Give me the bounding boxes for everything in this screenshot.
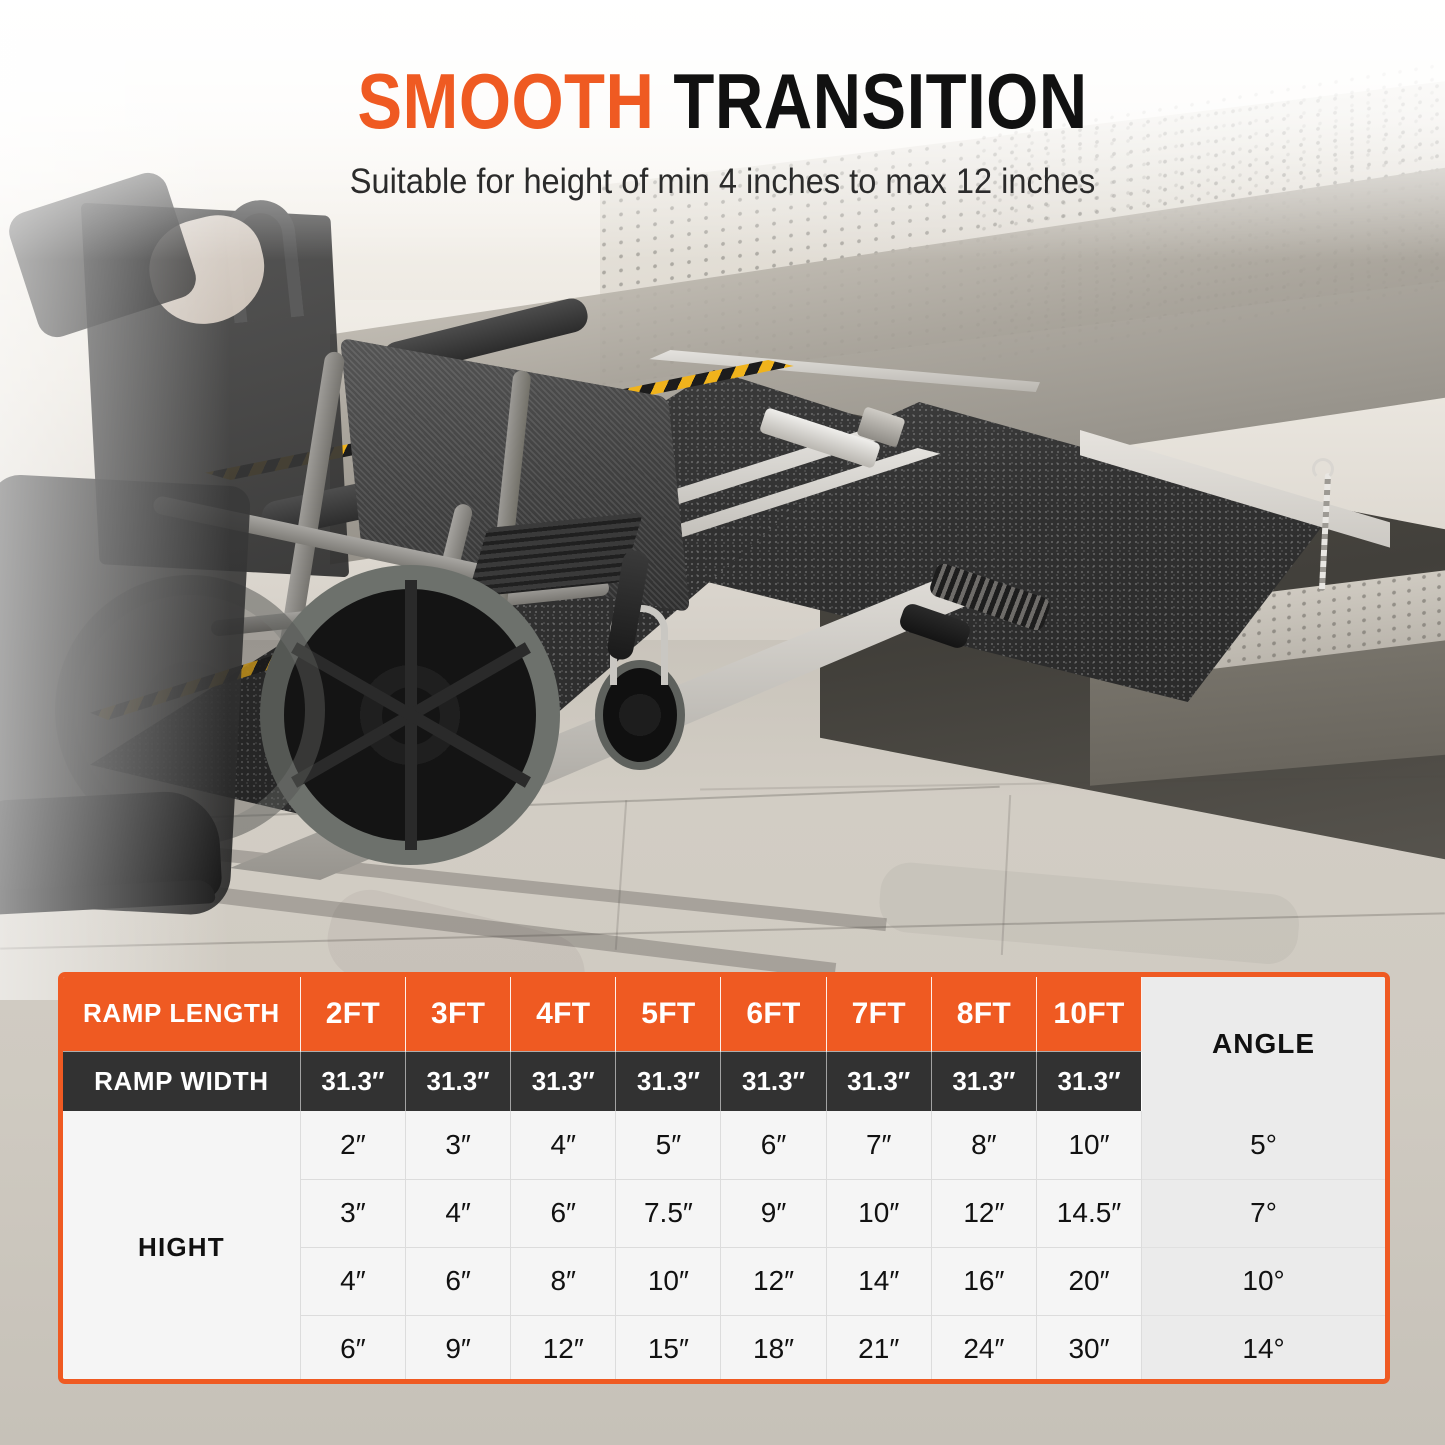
width-cell: 31.3″: [406, 1051, 511, 1111]
height-cell: 8″: [511, 1247, 616, 1315]
width-cell: 31.3″: [721, 1051, 826, 1111]
height-cell: 21″: [826, 1315, 931, 1383]
height-cell: 30″: [1036, 1315, 1141, 1383]
height-cell: 8″: [931, 1111, 1036, 1179]
length-cell: 8FT: [931, 977, 1036, 1051]
height-cell: 3″: [406, 1111, 511, 1179]
width-cell: 31.3″: [511, 1051, 616, 1111]
height-cell: 12″: [511, 1315, 616, 1383]
height-cell: 6″: [511, 1179, 616, 1247]
height-cell: 14.5″: [1036, 1179, 1141, 1247]
height-cell: 4″: [300, 1247, 405, 1315]
specification-table: RAMP LENGTH 2FT 3FT 4FT 5FT 6FT 7FT 8FT …: [58, 972, 1390, 1384]
row-header-ramp-length: RAMP LENGTH: [63, 977, 300, 1051]
width-cell: 31.3″: [826, 1051, 931, 1111]
length-cell: 4FT: [511, 977, 616, 1051]
height-cell: 10″: [1036, 1111, 1141, 1179]
height-cell: 15″: [616, 1315, 721, 1383]
height-cell: 18″: [721, 1315, 826, 1383]
length-cell: 6FT: [721, 977, 826, 1051]
angle-cell: 10°: [1142, 1247, 1385, 1315]
title-accent-word: SMOOTH: [357, 57, 654, 145]
table-row: HIGHT 2″ 3″ 4″ 5″ 6″ 7″ 8″ 10″ 5°: [63, 1111, 1385, 1179]
length-cell: 2FT: [300, 977, 405, 1051]
title-word: TRANSITION: [673, 57, 1087, 145]
table-row-ramp-length: RAMP LENGTH 2FT 3FT 4FT 5FT 6FT 7FT 8FT …: [63, 977, 1385, 1051]
length-cell: 7FT: [826, 977, 931, 1051]
height-cell: 7.5″: [616, 1179, 721, 1247]
height-cell: 6″: [406, 1247, 511, 1315]
height-cell: 6″: [300, 1315, 405, 1383]
width-cell: 31.3″: [931, 1051, 1036, 1111]
length-cell: 10FT: [1036, 977, 1141, 1051]
length-cell: 3FT: [406, 977, 511, 1051]
headline-block: SMOOTH TRANSITION Suitable for height of…: [0, 62, 1445, 202]
height-cell: 10″: [616, 1247, 721, 1315]
height-cell: 12″: [931, 1179, 1036, 1247]
chain-hook: [1312, 458, 1334, 480]
angle-cell: 14°: [1142, 1315, 1385, 1383]
width-cell: 31.3″: [300, 1051, 405, 1111]
height-cell: 3″: [300, 1179, 405, 1247]
row-header-ramp-width: RAMP WIDTH: [63, 1051, 300, 1111]
height-cell: 14″: [826, 1247, 931, 1315]
width-cell: 31.3″: [1036, 1051, 1141, 1111]
safety-chain: [1319, 473, 1331, 591]
height-cell: 4″: [406, 1179, 511, 1247]
length-cell: 5FT: [616, 977, 721, 1051]
page-title: SMOOTH TRANSITION: [101, 62, 1344, 140]
height-cell: 6″: [721, 1111, 826, 1179]
angle-cell: 7°: [1142, 1179, 1385, 1247]
height-cell: 16″: [931, 1247, 1036, 1315]
height-cell: 10″: [826, 1179, 931, 1247]
row-header-height: HIGHT: [63, 1111, 300, 1383]
height-cell: 4″: [511, 1111, 616, 1179]
angle-cell: 5°: [1142, 1111, 1385, 1179]
height-cell: 24″: [931, 1315, 1036, 1383]
ramp-spec-grid: RAMP LENGTH 2FT 3FT 4FT 5FT 6FT 7FT 8FT …: [63, 977, 1385, 1383]
height-cell: 12″: [721, 1247, 826, 1315]
height-cell: 7″: [826, 1111, 931, 1179]
height-cell: 20″: [1036, 1247, 1141, 1315]
column-header-angle: ANGLE: [1142, 977, 1385, 1111]
height-cell: 9″: [406, 1315, 511, 1383]
height-cell: 2″: [300, 1111, 405, 1179]
width-cell: 31.3″: [616, 1051, 721, 1111]
page-subtitle: Suitable for height of min 4 inches to m…: [51, 162, 1395, 202]
height-cell: 9″: [721, 1179, 826, 1247]
height-cell: 5″: [616, 1111, 721, 1179]
